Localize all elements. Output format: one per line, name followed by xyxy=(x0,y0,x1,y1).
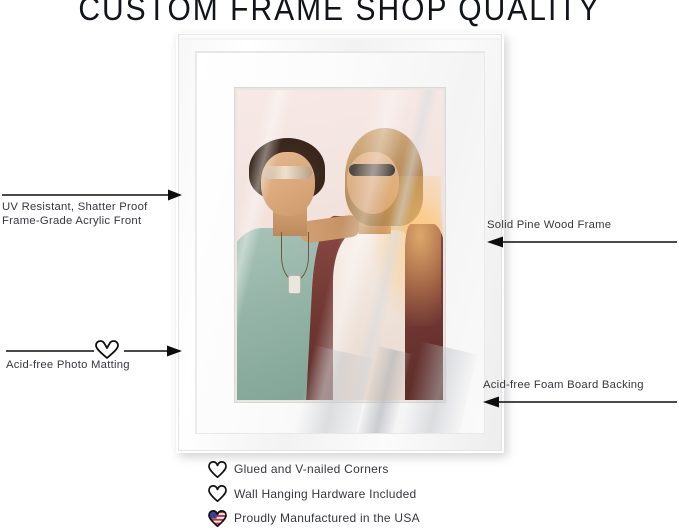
arrow-left-icon xyxy=(483,395,677,408)
callout-acrylic-line2: Frame-Grade Acrylic Front xyxy=(2,214,182,228)
photo-man-sunglasses xyxy=(264,166,312,179)
callout-pine-label: Solid Pine Wood Frame xyxy=(487,218,677,232)
list-item: Wall Hanging Hardware Included xyxy=(208,482,420,507)
list-item: Glued and V-nailed Corners xyxy=(208,457,420,482)
callout-acrylic-front: UV Resistant, Shatter Proof Frame-Grade … xyxy=(2,188,182,228)
photo-backlight-glow xyxy=(371,176,441,326)
heart-icon xyxy=(208,461,234,478)
photo-woman-sunglasses xyxy=(349,164,395,176)
callout-pine-frame: Solid Pine Wood Frame xyxy=(487,218,677,248)
feature-list: Glued and V-nailed Corners Wall Hanging … xyxy=(208,457,420,530)
photo-image xyxy=(237,90,443,400)
photo-man-necklace xyxy=(281,232,309,281)
callout-matting-label: Acid-free Photo Matting xyxy=(6,358,182,372)
arrow-right-heart-icon xyxy=(6,340,182,358)
feature-label: Glued and V-nailed Corners xyxy=(234,462,389,476)
photo-man-dogtag xyxy=(289,276,300,293)
feature-label: Proudly Manufactured in the USA xyxy=(234,511,420,525)
list-item: Proudly Manufactured in the USA xyxy=(208,506,420,530)
infographic-canvas: CUSTOM FRAME SHOP QUALITY xyxy=(0,0,679,530)
arrow-left-icon xyxy=(487,235,677,248)
photo-man-face xyxy=(261,152,315,216)
arrow-right-icon xyxy=(2,188,182,200)
feature-label: Wall Hanging Hardware Included xyxy=(234,487,416,501)
callout-foam-label: Acid-free Foam Board Backing xyxy=(483,378,677,392)
callout-foam-backing: Acid-free Foam Board Backing xyxy=(483,378,677,408)
page-title: CUSTOM FRAME SHOP QUALITY xyxy=(0,0,679,29)
heart-icon xyxy=(208,485,234,502)
usa-flag-heart-icon xyxy=(208,510,234,527)
callout-photo-matting: Acid-free Photo Matting xyxy=(6,340,182,372)
callout-acrylic-line1: UV Resistant, Shatter Proof xyxy=(2,200,182,214)
